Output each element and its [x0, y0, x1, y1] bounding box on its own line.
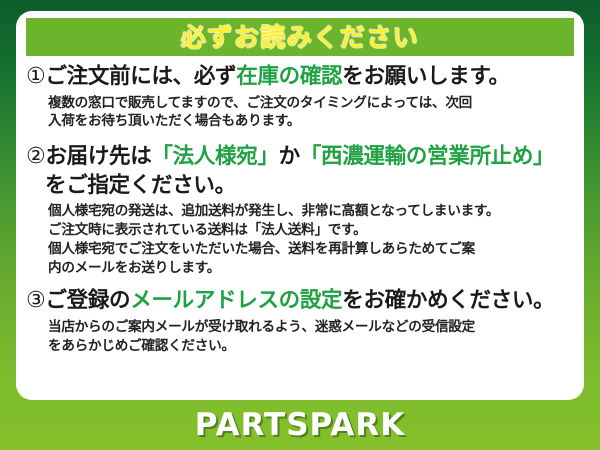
notice-1-body-line-2: 入荷をお待ち頂いただく場合もあります。 [48, 112, 576, 131]
notice-2-headline-highlight: 「法人様宛」 [151, 144, 278, 169]
notice-2-body-line-3: 個人様宅宛でご注文をいただいた場合、送料を再計算しあらためてご案 [48, 240, 576, 259]
notice-item-1: ①ご注文前には、必ず在庫の確認をお願いします。 複数の窓口で販売してますので、ご… [26, 63, 576, 131]
notice-1-marker: ① [26, 64, 45, 89]
notice-item-3: ③ご登録のメールアドレスの設定をお確かめください。 当店からのご案内メールが受け… [26, 287, 576, 355]
notice-3-body: 当店からのご案内メールが受け取れるよう、迷惑メールなどの受信設定 をあらかじめご… [26, 318, 576, 356]
notice-2-headline-middle: か [279, 144, 300, 169]
notice-2-body: 個人様宅宛の発送は、追加送料が発生し、非常に高額となってしまいます。 ご注文時に… [26, 202, 576, 278]
notice-3-headline-before: ご登録の [45, 288, 130, 313]
notice-3-headline-highlight: メールアドレスの設定 [130, 288, 342, 313]
notice-1-headline-after: をお願いします。 [342, 64, 509, 89]
notice-2-body-line-2: ご注文時に表示されている送料は「法人送料」です。 [48, 221, 576, 240]
white-content-card: 必ずお読みください ①ご注文前には、必ず在庫の確認をお願いします。 複数の窓口で… [16, 11, 584, 400]
footer-bar: PARTSPARK [0, 400, 600, 450]
notice-list: ①ご注文前には、必ず在庫の確認をお願いします。 複数の窓口で販売してますので、ご… [16, 63, 584, 356]
notice-1-headline: ①ご注文前には、必ず在庫の確認をお願いします。 [26, 63, 576, 92]
notice-2-body-line-4: 内のメールをお送りします。 [48, 259, 576, 278]
notice-3-body-line-1: 当店からのご案内メールが受け取れるよう、迷惑メールなどの受信設定 [48, 318, 576, 337]
notice-2-headline-highlight-2: 「西濃運輸の営業所止め」 [300, 144, 554, 169]
notice-3-marker: ③ [26, 288, 45, 313]
notice-2-headline-before: お届け先は [45, 144, 151, 169]
notice-item-2: ②お届け先は「法人様宛」か「西濃運輸の営業所止め」 をご指定ください。 個人様宅… [26, 143, 576, 277]
brand-logo-text: PARTSPARK [195, 410, 406, 441]
notice-2-headline: ②お届け先は「法人様宛」か「西濃運輸の営業所止め」 [26, 143, 576, 172]
notice-1-body: 複数の窓口で販売してますので、ご注文のタイミングによっては、次回 入荷をお待ち頂… [26, 94, 576, 132]
notice-1-headline-highlight: 在庫の確認 [236, 64, 342, 89]
notice-2-body-line-1: 個人様宅宛の発送は、追加送料が発生し、非常に高額となってしまいます。 [48, 202, 576, 221]
notice-1-body-line-1: 複数の窓口で販売してますので、ご注文のタイミングによっては、次回 [48, 94, 576, 113]
page-title: 必ずお読みください [181, 25, 420, 50]
title-banner: 必ずお読みください [26, 18, 574, 56]
notice-banner-image: 必ずお読みください ①ご注文前には、必ず在庫の確認をお願いします。 複数の窓口で… [0, 0, 600, 450]
notice-2-headline-line-2: をご指定ください。 [26, 172, 576, 200]
notice-1-headline-before: ご注文前には、必ず [45, 64, 236, 89]
notice-3-body-line-2: をあらかじめご確認ください。 [48, 337, 576, 356]
notice-3-headline-after: をお確かめください。 [342, 288, 554, 313]
notice-2-marker: ② [26, 144, 45, 169]
notice-3-headline: ③ご登録のメールアドレスの設定をお確かめください。 [26, 287, 576, 316]
